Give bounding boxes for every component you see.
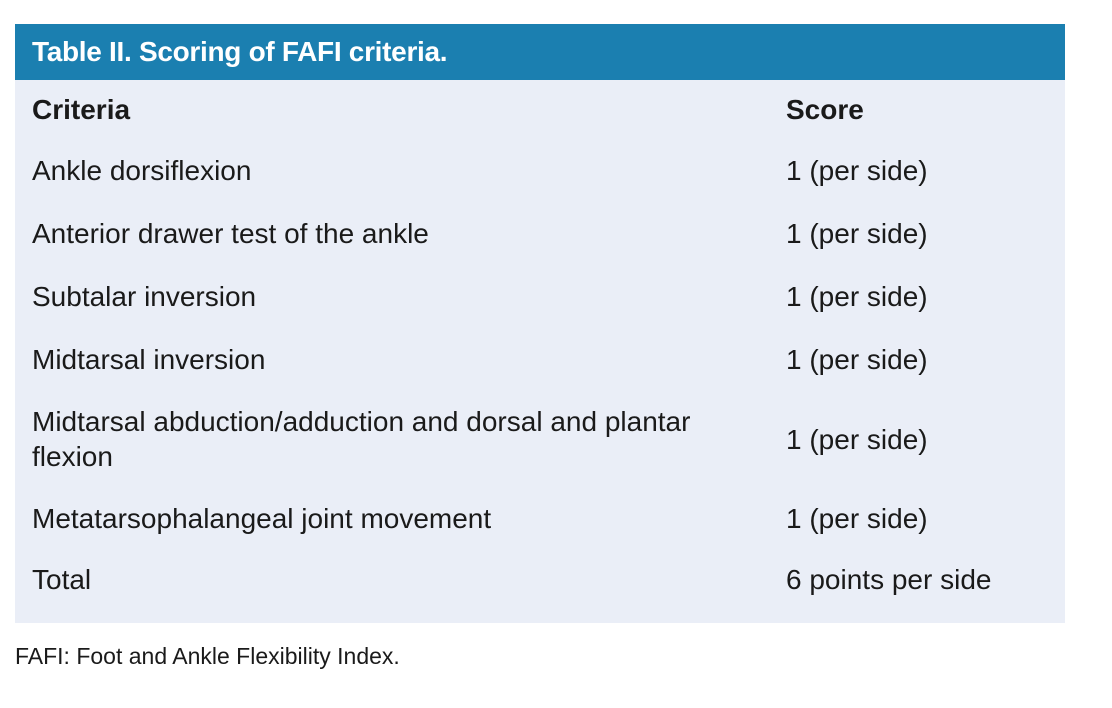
score-text: 6 points per side	[786, 564, 991, 595]
table-rows: Ankle dorsiflexion 1 (per side) Anterior…	[15, 140, 1065, 609]
scoring-table: Criteria Score Ankle dorsiflexion 1 (per…	[15, 80, 1065, 609]
table-title: Table II. Scoring of FAFI criteria.	[32, 38, 447, 66]
table-row-total: Total 6 points per side	[15, 551, 1065, 609]
table-row: Midtarsal inversion 1 (per side)	[15, 329, 1065, 392]
cell-score: 1 (per side)	[786, 488, 1065, 551]
column-header-criteria: Criteria	[15, 80, 786, 140]
column-header-criteria-label: Criteria	[15, 94, 152, 125]
score-text: 1 (per side)	[786, 344, 928, 375]
criteria-text: Midtarsal inversion	[15, 344, 287, 375]
cell-criteria: Subtalar inversion	[15, 266, 786, 329]
criteria-text: Anterior drawer test of the ankle	[15, 218, 451, 249]
score-text: 1 (per side)	[786, 424, 928, 455]
table-header-row: Criteria Score	[15, 80, 1065, 140]
table-row: Anterior drawer test of the ankle 1 (per…	[15, 203, 1065, 266]
table-header: Criteria Score	[15, 80, 1065, 140]
column-header-score: Score	[786, 80, 1065, 140]
cell-score: 1 (per side)	[786, 266, 1065, 329]
score-text: 1 (per side)	[786, 281, 928, 312]
cell-score: 1 (per side)	[786, 329, 1065, 392]
table-container: Table II. Scoring of FAFI criteria. Crit…	[15, 24, 1065, 623]
criteria-text: Subtalar inversion	[15, 281, 278, 312]
score-text: 1 (per side)	[786, 218, 928, 249]
criteria-text: Midtarsal abduction/adduction and dorsal…	[15, 405, 754, 474]
table-row: Metatarsophalangeal joint movement 1 (pe…	[15, 488, 1065, 551]
cell-score: 1 (per side)	[786, 392, 1065, 488]
column-header-score-label: Score	[786, 94, 864, 125]
table-row: Subtalar inversion 1 (per side)	[15, 266, 1065, 329]
score-text: 1 (per side)	[786, 155, 928, 186]
cell-criteria: Ankle dorsiflexion	[15, 140, 786, 203]
table-footnote: FAFI: Foot and Ankle Flexibility Index.	[15, 643, 400, 671]
cell-criteria: Midtarsal inversion	[15, 329, 786, 392]
table-row: Ankle dorsiflexion 1 (per side)	[15, 140, 1065, 203]
cell-criteria: Total	[15, 551, 786, 609]
cell-criteria: Midtarsal abduction/adduction and dorsal…	[15, 392, 786, 488]
cell-score: 1 (per side)	[786, 140, 1065, 203]
criteria-text: Ankle dorsiflexion	[15, 155, 273, 186]
cell-criteria: Metatarsophalangeal joint movement	[15, 488, 786, 551]
table-row: Midtarsal abduction/adduction and dorsal…	[15, 392, 1065, 488]
cell-criteria: Anterior drawer test of the ankle	[15, 203, 786, 266]
score-text: 1 (per side)	[786, 503, 928, 534]
criteria-text: Total	[15, 564, 113, 595]
table-caption-bar: Table II. Scoring of FAFI criteria.	[15, 24, 1065, 80]
cell-score: 1 (per side)	[786, 203, 1065, 266]
table-body: Criteria Score Ankle dorsiflexion 1 (per…	[15, 80, 1065, 623]
criteria-text: Metatarsophalangeal joint movement	[15, 503, 513, 534]
cell-score: 6 points per side	[786, 551, 1065, 609]
